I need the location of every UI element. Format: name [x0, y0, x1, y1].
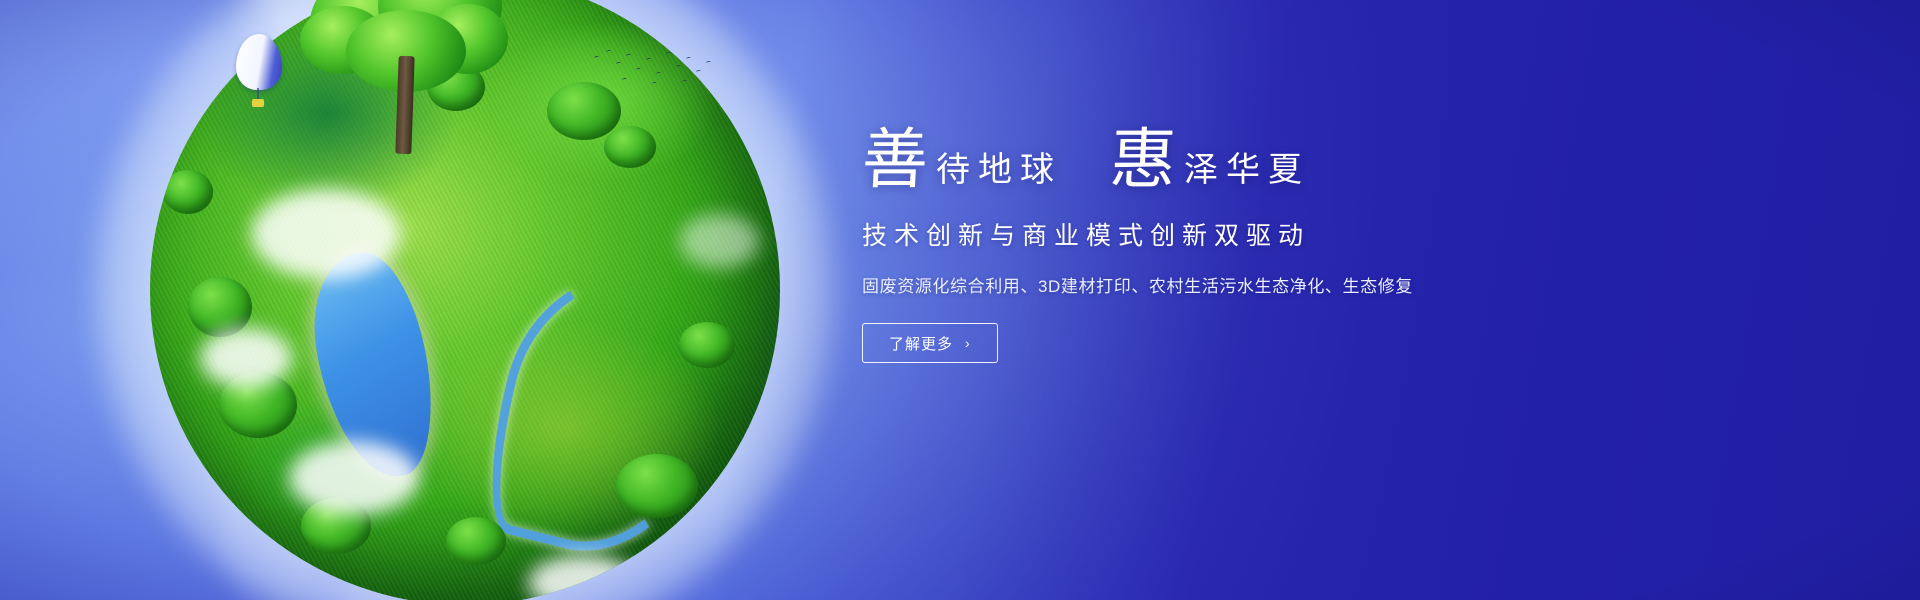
learn-more-label: 了解更多	[889, 333, 953, 354]
headline-rest-1: 待地球	[928, 154, 1062, 194]
headline: 善 待地球 惠 泽华夏	[862, 128, 1562, 194]
hero-copy-block: 善 待地球 惠 泽华夏 技术创新与商业模式创新双驱动 固废资源化综合利用、3D建…	[862, 128, 1562, 363]
hero-banner: 善 待地球 惠 泽华夏 技术创新与商业模式创新双驱动 固废资源化综合利用、3D建…	[0, 0, 1920, 600]
description: 固废资源化综合利用、3D建材打印、农村生活污水生态净化、生态修复	[862, 272, 1562, 297]
headline-lead-1: 善	[860, 128, 929, 194]
chevron-right-icon: ›	[965, 336, 971, 350]
headline-lead-2: 惠	[1108, 128, 1177, 194]
learn-more-button[interactable]: 了解更多 ›	[862, 323, 998, 363]
headline-rest-2: 泽华夏	[1176, 154, 1310, 194]
subtitle: 技术创新与商业模式创新双驱动	[862, 216, 1562, 252]
